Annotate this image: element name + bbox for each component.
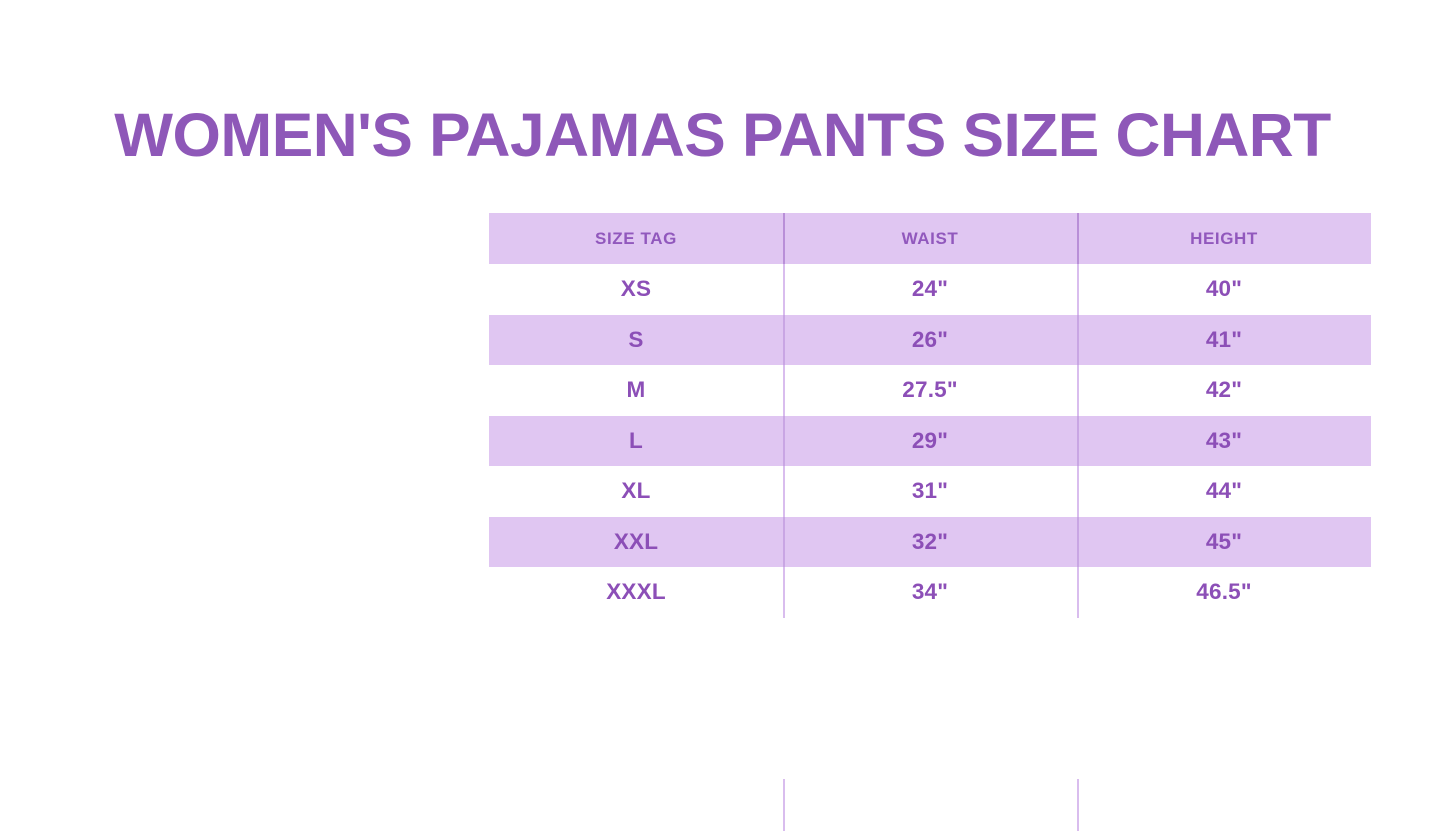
page-title: WOMEN'S PAJAMAS PANTS SIZE CHART	[0, 105, 1445, 166]
cell-height: 40"	[1077, 264, 1371, 315]
cell-height: 43"	[1077, 416, 1371, 467]
table-row: XS 24" 40"	[489, 264, 1371, 315]
table-row: S 26" 41"	[489, 315, 1371, 366]
column-header-height: HEIGHT	[1077, 213, 1371, 264]
cell-size-tag: XXL	[489, 517, 783, 568]
table-row: XL 31" 44"	[489, 466, 1371, 517]
cell-height: 46.5"	[1077, 567, 1371, 618]
cell-height: 45"	[1077, 517, 1371, 568]
column-divider-line	[783, 779, 785, 831]
cell-waist: 32"	[783, 517, 1077, 568]
column-header-waist: WAIST	[783, 213, 1077, 264]
cell-size-tag: S	[489, 315, 783, 366]
cell-size-tag: XS	[489, 264, 783, 315]
column-header-size-tag: SIZE TAG	[489, 213, 783, 264]
size-chart-page: WOMEN'S PAJAMAS PANTS SIZE CHART SIZE TA…	[0, 0, 1445, 723]
table-row: XXL 32" 45"	[489, 517, 1371, 568]
cell-height: 42"	[1077, 365, 1371, 416]
table-body: XS 24" 40" S 26" 41" M 27.5" 42" L 29"	[489, 264, 1371, 618]
size-chart-table-wrapper: SIZE TAG WAIST HEIGHT XS 24" 40" S 26" 4…	[489, 213, 1371, 618]
cell-waist: 34"	[783, 567, 1077, 618]
size-chart-table: SIZE TAG WAIST HEIGHT XS 24" 40" S 26" 4…	[489, 213, 1371, 618]
table-header-row: SIZE TAG WAIST HEIGHT	[489, 213, 1371, 264]
table-row: L 29" 43"	[489, 416, 1371, 467]
cell-height: 44"	[1077, 466, 1371, 517]
cell-size-tag: XXXL	[489, 567, 783, 618]
cell-size-tag: XL	[489, 466, 783, 517]
cell-size-tag: L	[489, 416, 783, 467]
cell-waist: 27.5"	[783, 365, 1077, 416]
table-row: XXXL 34" 46.5"	[489, 567, 1371, 618]
table-header: SIZE TAG WAIST HEIGHT	[489, 213, 1371, 264]
cell-height: 41"	[1077, 315, 1371, 366]
cell-waist: 29"	[783, 416, 1077, 467]
column-divider-line	[1077, 779, 1079, 831]
cell-waist: 26"	[783, 315, 1077, 366]
cell-waist: 24"	[783, 264, 1077, 315]
table-row: M 27.5" 42"	[489, 365, 1371, 416]
cell-size-tag: M	[489, 365, 783, 416]
cell-waist: 31"	[783, 466, 1077, 517]
